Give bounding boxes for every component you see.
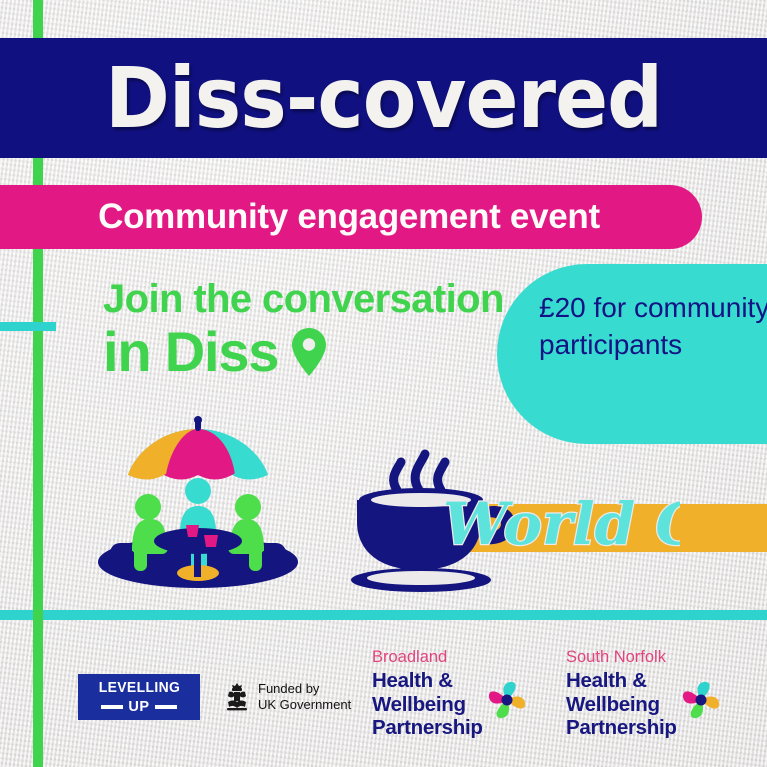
price-text: £20 for community participants xyxy=(539,290,767,364)
footer-logos: LEVELLING UP Funded by xyxy=(0,636,767,767)
subtitle-banner: Community engagement event xyxy=(0,185,702,249)
cup-right-icon xyxy=(204,535,218,547)
funded-line2: UK Government xyxy=(258,697,351,712)
royal-crest-icon xyxy=(224,682,250,712)
headline-line2: in Diss xyxy=(103,324,278,380)
levelling-up-line1: LEVELLING xyxy=(98,680,180,696)
broadland-line1: Health & xyxy=(372,669,483,693)
subtitle-text: Community engagement event xyxy=(62,197,600,237)
teal-divider-short xyxy=(0,322,56,331)
location-pin-icon xyxy=(292,328,326,376)
world-cafe-logo: World Café xyxy=(335,442,680,597)
headline-block: Join the conversation in Diss xyxy=(103,278,504,380)
levelling-up-line2-row: UP xyxy=(101,699,176,715)
south-norfolk-line3: Partnership xyxy=(566,716,677,740)
south-norfolk-place: South Norfolk xyxy=(566,648,721,668)
south-norfolk-line2: Wellbeing xyxy=(566,693,677,717)
coffee-steam-icon xyxy=(394,454,445,490)
broadland-line2: Wellbeing xyxy=(372,693,483,717)
headline-line2-row: in Diss xyxy=(103,324,504,380)
title-banner: Diss-covered xyxy=(0,38,767,158)
broadland-line3: Partnership xyxy=(372,716,483,740)
broadland-place: Broadland xyxy=(372,648,527,668)
funded-by-uk-government-logo: Funded by UK Government xyxy=(224,681,351,713)
poster-canvas: Diss-covered Community engagement event … xyxy=(0,0,767,767)
page-title: Diss-covered xyxy=(105,56,662,140)
community-gathering-illustration xyxy=(92,415,304,590)
broadland-partnership-logo: Broadland Health & Wellbeing Partnership xyxy=(372,648,527,740)
levelling-up-line2: UP xyxy=(128,699,149,715)
funded-line1: Funded by xyxy=(258,681,319,696)
petal-mark-icon xyxy=(681,681,721,719)
dash-left-icon xyxy=(101,705,123,709)
funded-by-text: Funded by UK Government xyxy=(258,681,351,713)
dash-right-icon xyxy=(155,705,177,709)
cafe-logo-text: World Café xyxy=(443,490,680,558)
umbrella-icon xyxy=(128,416,268,480)
petal-mark-icon xyxy=(487,681,527,719)
price-callout: £20 for community participants xyxy=(497,264,767,444)
cup-left-icon xyxy=(186,525,199,537)
teal-divider-full xyxy=(0,610,767,620)
south-norfolk-partnership-logo: South Norfolk Health & Wellbeing Partner… xyxy=(566,648,721,740)
levelling-up-logo: LEVELLING UP xyxy=(78,674,200,720)
south-norfolk-line1: Health & xyxy=(566,669,677,693)
headline-line1: Join the conversation xyxy=(103,278,504,320)
